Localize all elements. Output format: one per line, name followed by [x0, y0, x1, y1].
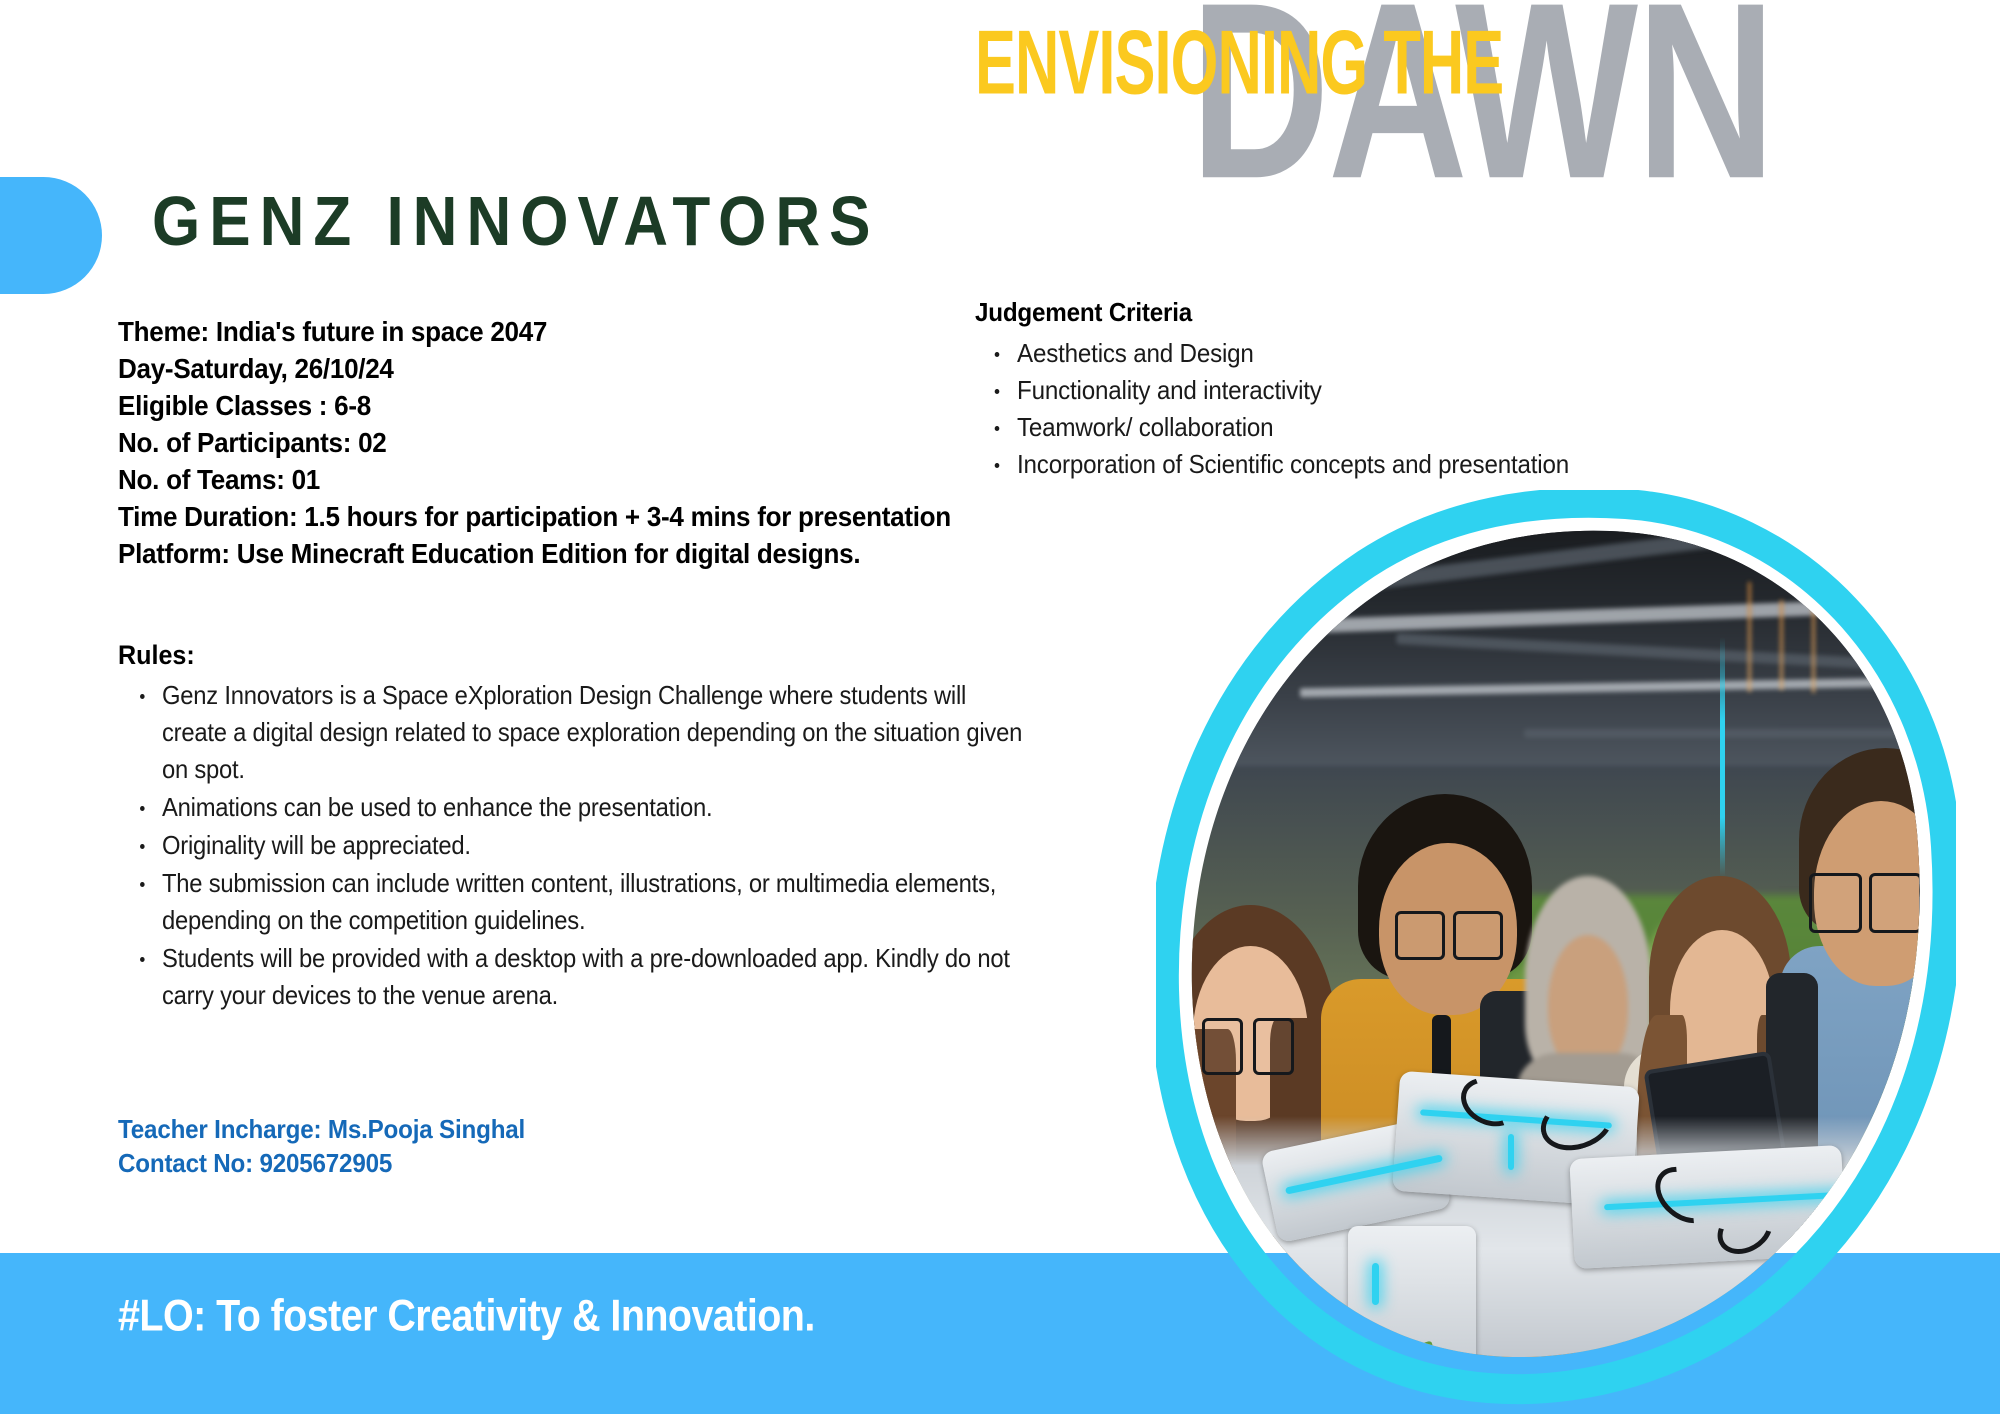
rules-list: Genz Innovators is a Space eXploration D… [118, 677, 1103, 1014]
event-details-block: Theme: India's future in space 2047 Day-… [118, 313, 1078, 572]
photo-clip-mask [1156, 490, 1956, 1410]
overlay-headline-envisioning: ENVISIONING THE [975, 16, 1503, 107]
list-item: The submission can include written conte… [162, 865, 1023, 939]
contact-block: Teacher Incharge: Ms.Pooja Singhal Conta… [118, 1112, 556, 1180]
judgement-criteria-list: Aesthetics and Design Functionality and … [975, 335, 1795, 483]
detail-theme: Theme: India's future in space 2047 [118, 313, 1011, 350]
list-item: Aesthetics and Design [1017, 335, 1741, 372]
judgement-criteria-block: Judgement Criteria Aesthetics and Design… [975, 295, 1795, 483]
poster-canvas: DAWN ENVISIONING THE GENZ INNOVATORS The… [0, 0, 2000, 1414]
detail-teams: No. of Teams: 01 [118, 461, 1011, 498]
list-item: Animations can be used to enhance the pr… [162, 789, 1023, 826]
list-item: Students will be provided with a desktop… [162, 940, 1023, 1014]
rules-heading: Rules: [118, 637, 1034, 673]
contact-number-line: Contact No: 9205672905 [118, 1146, 525, 1180]
detail-classes: Eligible Classes : 6-8 [118, 387, 1011, 424]
rules-block: Rules: Genz Innovators is a Space eXplor… [118, 637, 1103, 1015]
detail-participants: No. of Participants: 02 [118, 424, 1011, 461]
list-item: Genz Innovators is a Space eXploration D… [162, 677, 1023, 788]
list-item: Originality will be appreciated. [162, 827, 1023, 864]
learning-objective-text: #LO: To foster Creativity & Innovation. [118, 1293, 815, 1338]
detail-platform: Platform: Use Minecraft Education Editio… [118, 535, 1011, 572]
list-item: Functionality and interactivity [1017, 372, 1741, 409]
list-item: Incorporation of Scientific concepts and… [1017, 446, 1741, 483]
teacher-incharge-line: Teacher Incharge: Ms.Pooja Singhal [118, 1112, 525, 1146]
detail-duration: Time Duration: 1.5 hours for participati… [118, 498, 1011, 535]
detail-day: Day-Saturday, 26/10/24 [118, 350, 1011, 387]
header-banner: DAWN ENVISIONING THE [0, 0, 2000, 180]
blue-pill-accent [0, 177, 102, 294]
list-item: Teamwork/ collaboration [1017, 409, 1741, 446]
page-title: GENZ INNOVATORS [152, 188, 879, 257]
judgement-criteria-heading: Judgement Criteria [975, 295, 1738, 329]
photo-scene [1156, 490, 1956, 1410]
photo-blob [1156, 490, 1956, 1410]
